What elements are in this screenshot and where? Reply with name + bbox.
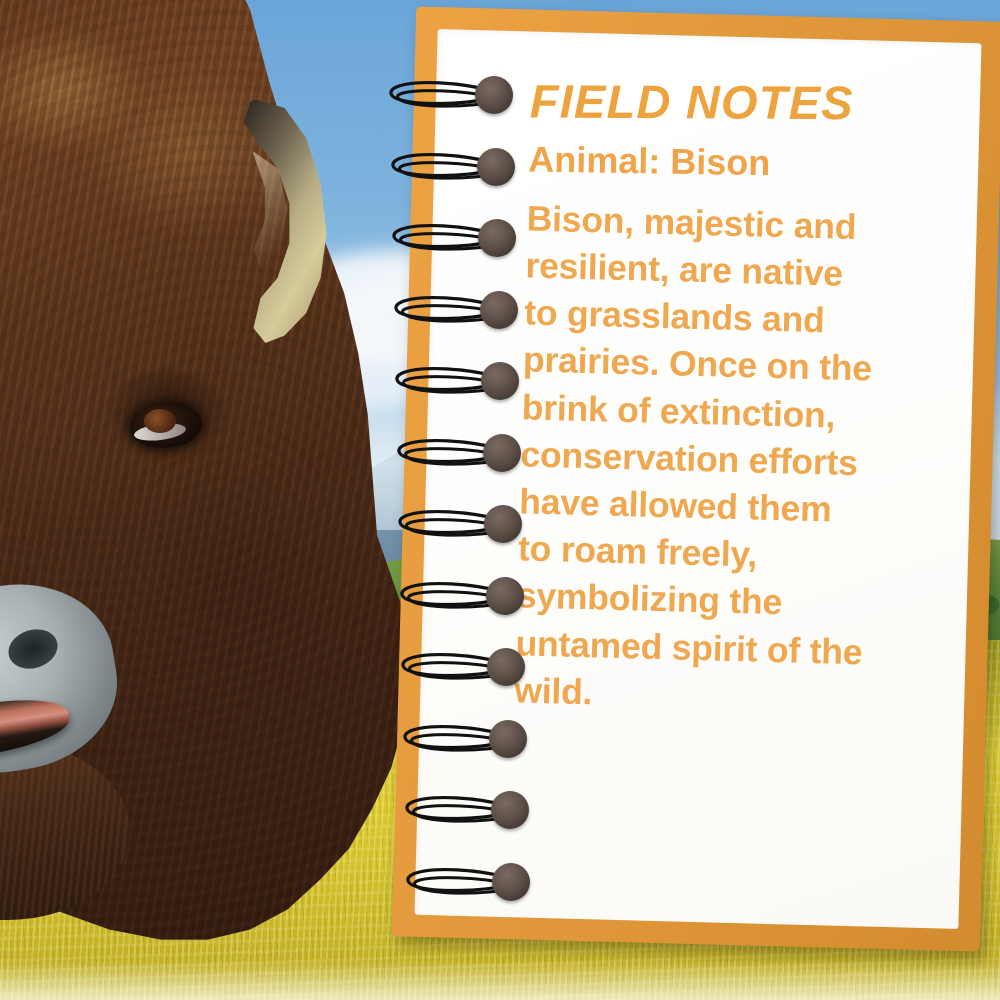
spiral-notebook: FIELD NOTES Animal: Bison Bison, majesti…	[392, 6, 1000, 951]
body-line: wild.	[514, 667, 953, 726]
animal-name-line: Animal: Bison	[528, 140, 967, 185]
notebook-text-block: FIELD NOTES Animal: Bison Bison, majesti…	[509, 77, 969, 920]
bison-photo	[0, 0, 410, 980]
field-notes-body: Bison, majestic and resilient, are nativ…	[514, 195, 965, 726]
bison-eye-iris	[144, 409, 176, 433]
page-title: FIELD NOTES	[530, 77, 968, 126]
field-notes-card: FIELD NOTES Animal: Bison Bison, majesti…	[0, 0, 1000, 1000]
